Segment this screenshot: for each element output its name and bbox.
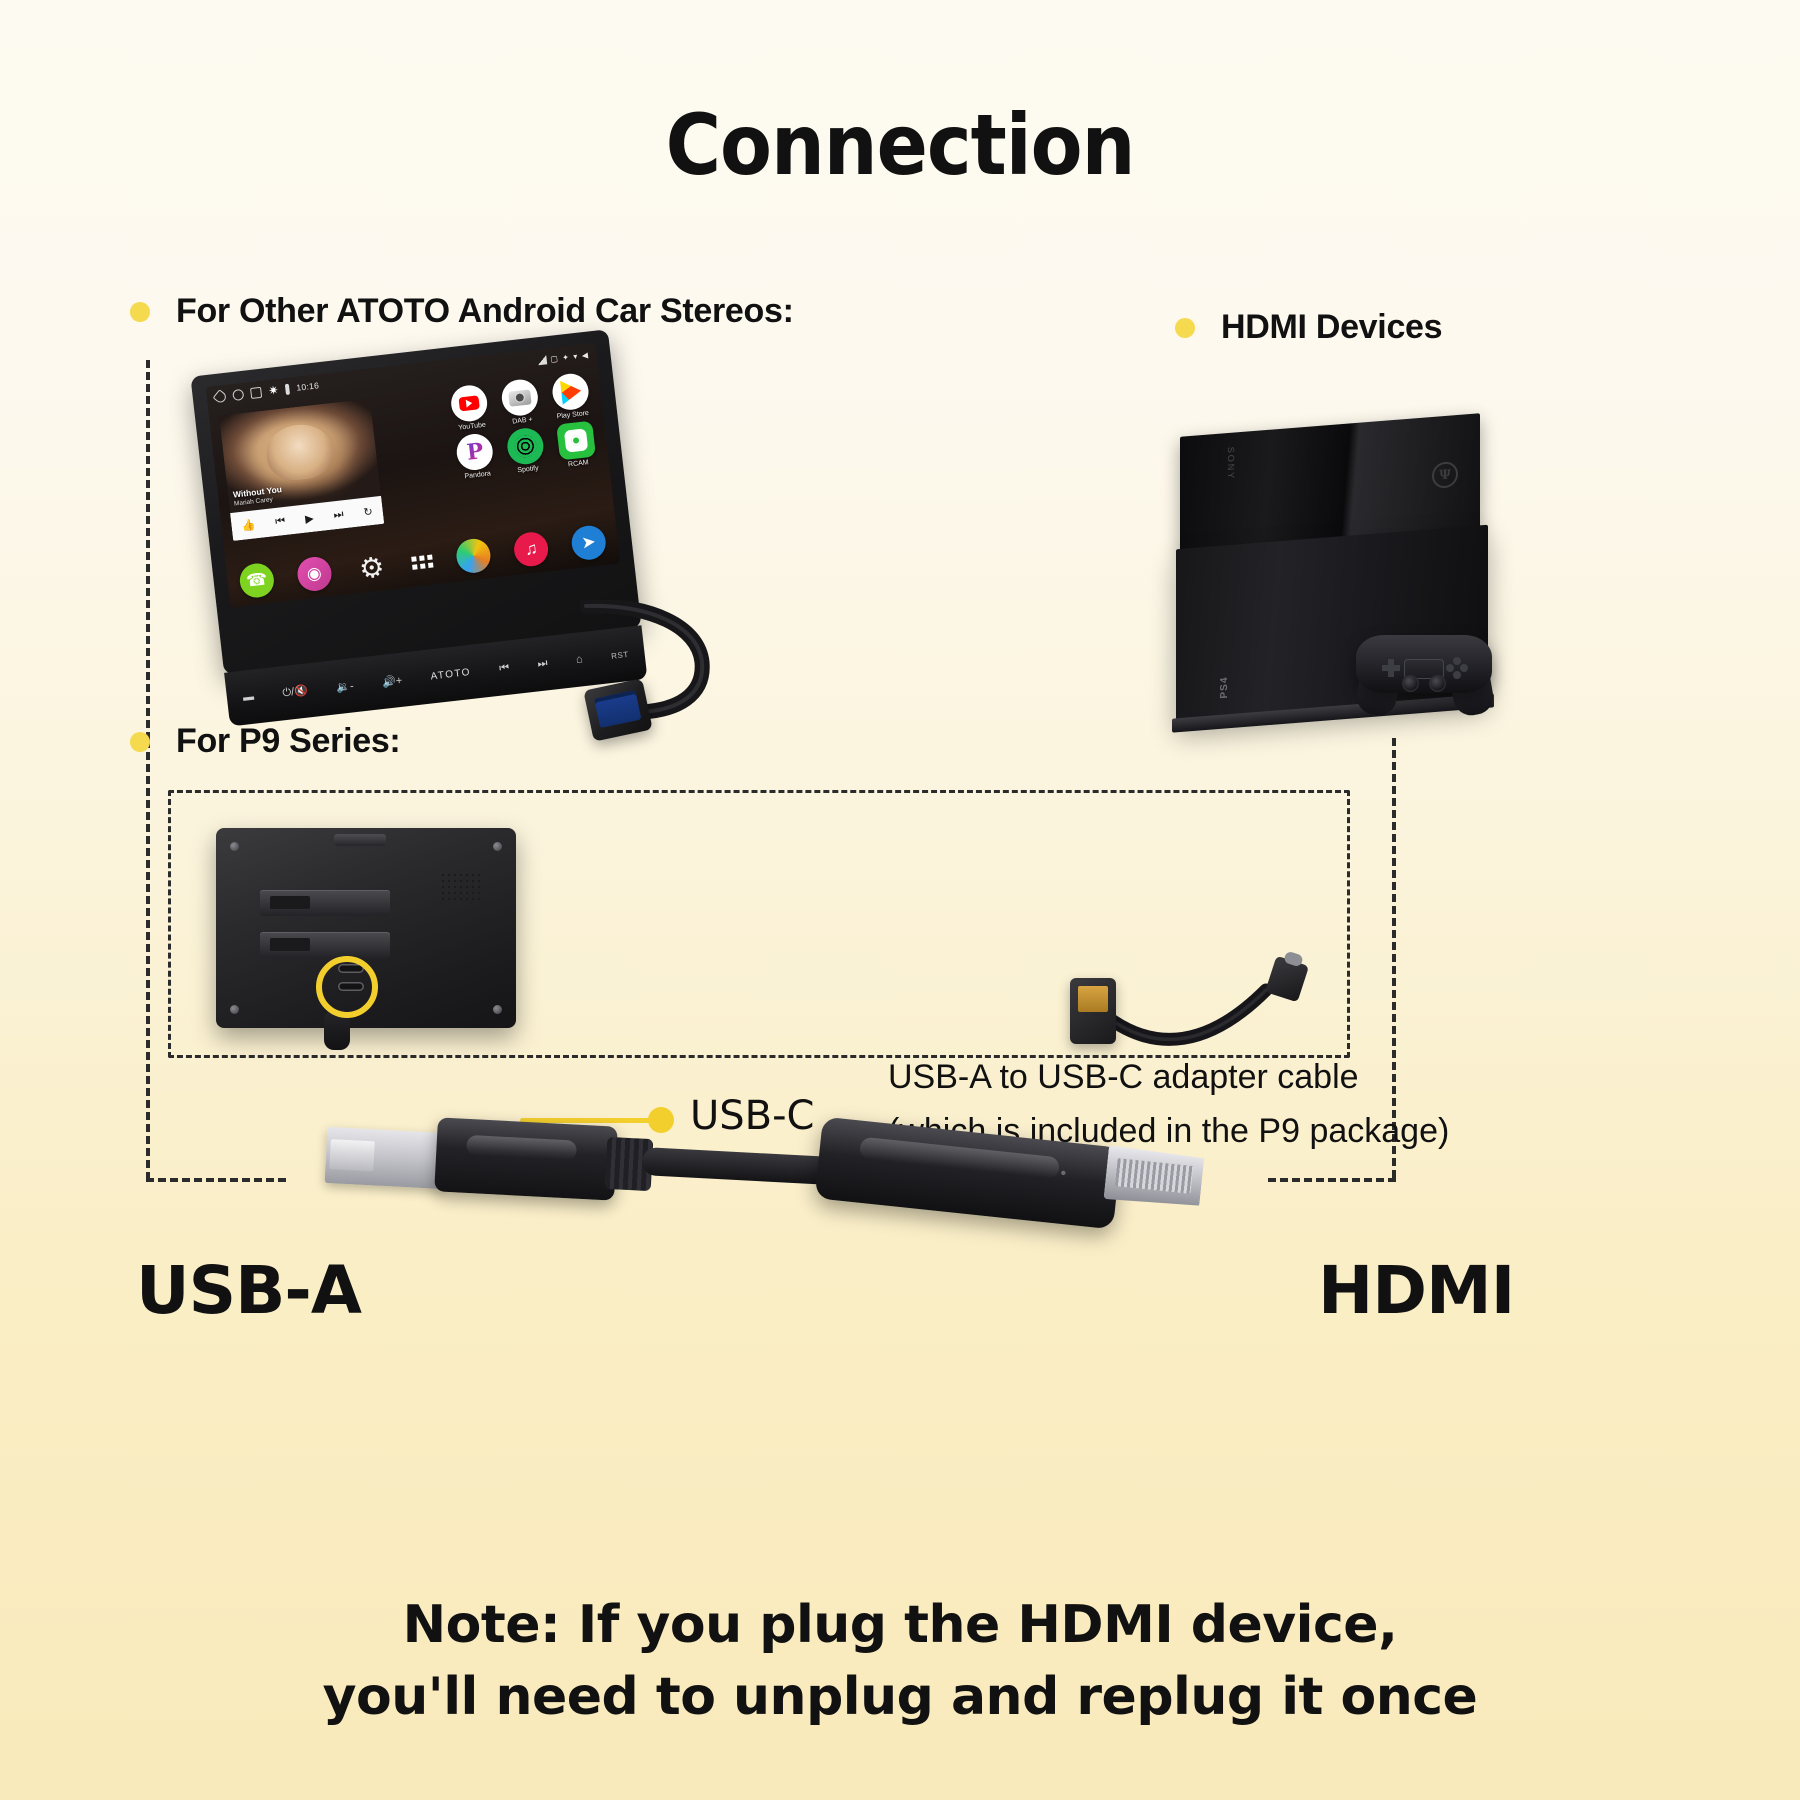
adapter-usb-a-female-end [1070, 978, 1116, 1044]
ps4-console: SONY Ψ PS4 [1172, 425, 1502, 745]
playstation-logo-icon: Ψ [1432, 461, 1458, 489]
usb-a-connector-hood [434, 1117, 618, 1200]
pandora-icon: P [455, 432, 495, 472]
stereo-chassis: ✷ 10:16 ▢ ✦ ▾ ◀ Without You Mar [190, 329, 641, 675]
usb-a-to-hdmi-cable: ● [290, 1108, 1310, 1288]
next-icon[interactable]: ⏭ [333, 508, 344, 522]
status-indicators: ▢ ✦ ▾ ◀ [537, 350, 589, 365]
dashed-line-left-bottom [146, 1178, 286, 1182]
rcam-icon [556, 421, 596, 461]
navigation-icon[interactable]: ➤ [570, 524, 608, 562]
wifi-icon: ▾ [573, 351, 579, 360]
app-spotify[interactable]: Spotify [499, 426, 552, 476]
phone-icon[interactable]: ☎ [238, 562, 276, 600]
hdmi-connector-hood: ● [815, 1117, 1122, 1230]
dpad-icon [1382, 659, 1400, 677]
play-store-icon [550, 372, 590, 412]
repeat-icon[interactable]: ↻ [363, 505, 374, 519]
app-rcam[interactable]: RCAM [550, 420, 603, 470]
infographic-canvas: Connection For Other ATOTO Android Car S… [0, 0, 1800, 1800]
otg-adapter-cable [580, 600, 780, 750]
app-label: YouTube [458, 422, 486, 432]
app-dab[interactable]: DAB + [494, 377, 547, 427]
radio-icon[interactable]: ◉ [296, 555, 334, 593]
previous-track-button[interactable]: ⏮ [499, 661, 510, 675]
face-buttons [1446, 657, 1468, 679]
battery-icon: ▢ [550, 354, 559, 364]
home-circle-icon[interactable] [232, 388, 244, 400]
usb-a-to-usb-c-adapter-cable [1060, 950, 1310, 1060]
screw-icon [493, 1005, 502, 1014]
app-label: Play Store [556, 410, 589, 421]
app-grid: YouTube DAB + Play Store P Pandora [443, 371, 603, 481]
status-time: 10:16 [296, 380, 320, 393]
bullet-dot-icon [130, 732, 150, 752]
power-mute-button[interactable]: ⏻/🔇 [282, 684, 309, 701]
app-label: RCAM [568, 459, 589, 468]
dab-radio-icon [500, 378, 540, 418]
hdmi-connector-label: HDMI [1318, 1252, 1514, 1329]
brightness-icon[interactable]: ✷ [268, 384, 279, 397]
youtube-icon [450, 383, 490, 423]
next-track-button[interactable]: ⏭ [537, 657, 548, 671]
recents-icon[interactable] [250, 386, 262, 398]
app-youtube[interactable]: YouTube [443, 383, 496, 433]
atoto-brand-label: ATOTO [430, 666, 471, 681]
heading-hdmi-devices-label: HDMI Devices [1221, 308, 1442, 347]
gallery-icon[interactable] [455, 537, 493, 575]
music-icon[interactable]: ♫ [512, 530, 550, 568]
app-label: Spotify [517, 465, 539, 474]
previous-icon[interactable]: ⏮ [275, 514, 286, 528]
ps4-model-label: PS4 [1219, 676, 1230, 699]
p9-bracket-lower [260, 932, 390, 958]
dashed-line-left-upper [146, 360, 150, 740]
screw-icon [493, 842, 502, 851]
ir-sensor-icon: ▬ [242, 691, 254, 704]
note-line-2: you'll need to unplug and replug it once [0, 1662, 1800, 1734]
signal-icon [537, 355, 547, 365]
screw-icon [230, 1005, 239, 1014]
spotify-icon [505, 426, 545, 466]
app-play-store[interactable]: Play Store [544, 371, 597, 421]
usb-c-highlight-ring [316, 956, 378, 1018]
app-drawer-icon[interactable] [412, 554, 434, 569]
controller-body [1356, 635, 1492, 693]
app-pandora[interactable]: P Pandora [449, 431, 502, 481]
cable-body [641, 1147, 832, 1185]
mic-icon[interactable] [285, 383, 290, 394]
app-label: Pandora [464, 470, 491, 480]
heading-other-stereos-label: For Other ATOTO Android Car Stereos: [176, 292, 794, 331]
heading-p9-series: For P9 Series: [130, 722, 400, 761]
app-label: DAB + [512, 416, 533, 425]
note-block: Note: If you plug the HDMI device, you'l… [0, 1590, 1800, 1734]
page-title: Connection [0, 96, 1800, 194]
back-icon[interactable] [213, 389, 228, 404]
usba-connector-label: USB-A [136, 1252, 361, 1329]
stereo-screen: ✷ 10:16 ▢ ✦ ▾ ◀ Without You Mar [206, 343, 621, 608]
p9-head-unit-rear [216, 828, 516, 1028]
p9-speaker-vent [440, 872, 482, 902]
dashed-line-left-lower [146, 740, 150, 1180]
volume-down-button[interactable]: 🔉- [336, 679, 355, 694]
left-stick [1402, 675, 1419, 692]
dualshock-controller [1340, 621, 1508, 717]
note-line-1: Note: If you plug the HDMI device, [0, 1590, 1800, 1662]
p9-bracket-upper [260, 890, 390, 916]
settings-gear-icon[interactable]: ⚙ [353, 549, 391, 587]
bullet-dot-icon [130, 302, 150, 322]
play-icon[interactable]: ▶ [304, 511, 314, 525]
screw-icon [230, 842, 239, 851]
volume-up-button[interactable]: 🔊+ [381, 673, 402, 688]
usb-a-male-plug [325, 1127, 448, 1189]
right-stick [1429, 675, 1446, 692]
heading-other-stereos: For Other ATOTO Android Car Stereos: [130, 292, 794, 331]
heading-p9-series-label: For P9 Series: [176, 722, 400, 761]
bullet-dot-icon [1175, 318, 1195, 338]
hdmi-male-plug [1103, 1145, 1204, 1209]
heading-hdmi-devices: HDMI Devices [1175, 308, 1442, 347]
thumbs-up-icon[interactable]: 👍 [241, 518, 256, 532]
cable-brand-mark: ● [1057, 1169, 1069, 1177]
volume-icon: ◀ [581, 350, 589, 360]
car-stereo-device: ✷ 10:16 ▢ ✦ ▾ ◀ Without You Mar [190, 329, 641, 675]
now-playing-card[interactable]: Without You Mariah Carey 👍 ⏮ ▶ ⏭ ↻ [219, 399, 384, 541]
sony-brand-label: SONY [1226, 446, 1236, 480]
bluetooth-icon: ✦ [562, 352, 570, 362]
p9-mount-tab [334, 834, 386, 846]
adapter-description-line-1: USB-A to USB-C adapter cable [888, 1050, 1488, 1104]
